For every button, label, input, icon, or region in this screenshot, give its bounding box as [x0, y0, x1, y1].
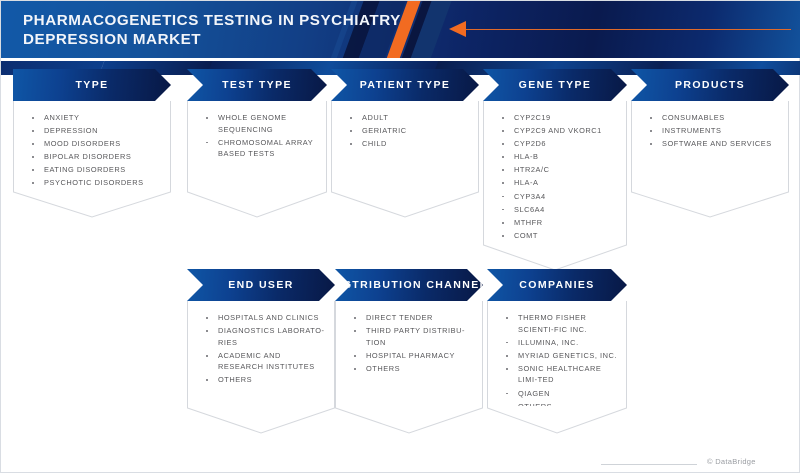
column-header-label: TEST TYPE	[222, 79, 292, 91]
list-item: SOFTWARE AND SERVICES	[646, 138, 780, 150]
column-bottom-point	[187, 406, 335, 434]
column-bottom-point	[187, 190, 327, 218]
column-header-gene-type[interactable]: GENE TYPE	[483, 69, 627, 101]
column-header-end-user[interactable]: END USER	[187, 269, 335, 301]
column-body-gene-type: CYP2C19CYP2C9 AND VKORC1CYP2D6HLA‐BHTR2A…	[483, 101, 627, 244]
list-item: WHOLE GENOME SEQUENCING	[202, 112, 318, 135]
list-item: OTHERS	[350, 363, 474, 375]
item-list-test-type: WHOLE GENOME SEQUENCINGCHROMOSOMAL ARRAY…	[188, 101, 326, 167]
column-header-test-type[interactable]: TEST TYPE	[187, 69, 327, 101]
category-column-patient-type[interactable]: PATIENT TYPEADULTGERIATRICCHILD	[331, 69, 479, 191]
list-item: DEPRESSION	[28, 125, 162, 137]
category-column-companies[interactable]: COMPANIESTHERMO FISHER SCIENTI‐FIC INC.I…	[487, 269, 627, 407]
column-header-label: PATIENT TYPE	[360, 79, 451, 91]
list-item: MOOD DISORDERS	[28, 138, 162, 150]
list-item: PSYCHOTIC DISORDERS	[28, 177, 162, 189]
column-bottom-point	[13, 190, 171, 218]
column-header-type[interactable]: TYPE	[13, 69, 171, 101]
item-list-companies: THERMO FISHER SCIENTI‐FIC INC.ILLUMINA, …	[488, 301, 626, 420]
list-item: ADULT	[346, 112, 470, 124]
list-item: MYRIAD GENETICS, INC.	[502, 350, 618, 362]
list-item: CYP3A4	[498, 191, 618, 203]
column-body-patient-type: ADULTGERIATRICCHILD	[331, 101, 479, 191]
column-body-type: ANXIETYDEPRESSIONMOOD DISORDERSBIPOLAR D…	[13, 101, 171, 191]
left-arrow-icon	[449, 21, 466, 37]
list-item: ACADEMIC AND RESEARCH INSTITUTES	[202, 350, 326, 373]
column-header-patient-type[interactable]: PATIENT TYPE	[331, 69, 479, 101]
column-header-label: END USER	[228, 279, 293, 291]
list-item: CYP2C9 AND VKORC1	[498, 125, 618, 137]
column-body-end-user: HOSPITALS AND CLINICSDIAGNOSTICS LABORAT…	[187, 301, 335, 407]
list-item: OTHERS	[202, 374, 326, 386]
column-body-products: CONSUMABLESINSTRUMENTSSOFTWARE AND SERVI…	[631, 101, 789, 191]
page-title: PHARMACOGENETICS TESTING IN PSYCHIATRY D…	[23, 11, 443, 49]
list-item: CYP2D6	[498, 138, 618, 150]
column-bottom-point	[487, 406, 627, 434]
list-item: INSTRUMENTS	[646, 125, 780, 137]
list-item: THIRD PARTY DISTRIBU‐TION	[350, 325, 474, 348]
list-item: HLA‐A	[498, 177, 618, 189]
infographic-root: PHARMACOGENETICS TESTING IN PSYCHIATRY D…	[0, 0, 800, 473]
column-header-companies[interactable]: COMPANIES	[487, 269, 627, 301]
list-item: MTHFR	[498, 217, 618, 229]
list-item: DIRECT TENDER	[350, 312, 474, 324]
column-body-distribution-channel: DIRECT TENDERTHIRD PARTY DISTRIBU‐TIONHO…	[335, 301, 483, 407]
column-header-products[interactable]: PRODUCTS	[631, 69, 789, 101]
item-list-end-user: HOSPITALS AND CLINICSDIAGNOSTICS LABORAT…	[188, 301, 334, 394]
list-item: COMT	[498, 230, 618, 242]
page-title-line1: PHARMACOGENETICS TESTING IN PSYCHIATRY	[23, 11, 443, 30]
list-item: SLC6A4	[498, 204, 618, 216]
list-item: HTR2A/C	[498, 164, 618, 176]
list-item: CYP2C19	[498, 112, 618, 124]
item-list-gene-type: CYP2C19CYP2C9 AND VKORC1CYP2D6HLA‐BHTR2A…	[484, 101, 626, 262]
category-column-distribution-channel[interactable]: DISTRIBUTION CHANNELDIRECT TENDERTHIRD P…	[335, 269, 483, 407]
column-header-distribution-channel[interactable]: DISTRIBUTION CHANNEL	[335, 269, 483, 301]
list-item: GERIATRIC	[346, 125, 470, 137]
list-item: EATING DISORDERS	[28, 164, 162, 176]
footer-divider	[601, 464, 697, 465]
list-item: ILLUMINA, INC.	[502, 337, 618, 349]
list-item: HOSPITAL PHARMACY	[350, 350, 474, 362]
list-item: CHROMOSOMAL ARRAY BASED TESTS	[202, 137, 318, 160]
column-header-label: GENE TYPE	[519, 79, 592, 91]
list-item: THERMO FISHER SCIENTI‐FIC INC.	[502, 312, 618, 335]
item-list-patient-type: ADULTGERIATRICCHILD	[332, 101, 478, 157]
list-item: CONSUMABLES	[646, 112, 780, 124]
column-header-label: TYPE	[75, 79, 108, 91]
item-list-distribution-channel: DIRECT TENDERTHIRD PARTY DISTRIBU‐TIONHO…	[336, 301, 482, 382]
list-item: HOSPITALS AND CLINICS	[202, 312, 326, 324]
category-column-test-type[interactable]: TEST TYPEWHOLE GENOME SEQUENCINGCHROMOSO…	[187, 69, 327, 191]
list-item: DIAGNOSTICS LABORATO‐RIES	[202, 325, 326, 348]
column-bottom-point	[331, 190, 479, 218]
category-column-products[interactable]: PRODUCTSCONSUMABLESINSTRUMENTSSOFTWARE A…	[631, 69, 789, 191]
category-column-end-user[interactable]: END USERHOSPITALS AND CLINICSDIAGNOSTICS…	[187, 269, 335, 407]
list-item: CHILD	[346, 138, 470, 150]
arrow-line	[465, 29, 791, 30]
title-bar: PHARMACOGENETICS TESTING IN PSYCHIATRY D…	[1, 1, 800, 58]
list-item: HLA‐B	[498, 151, 618, 163]
column-header-label: PRODUCTS	[675, 79, 745, 91]
category-column-gene-type[interactable]: GENE TYPECYP2C19CYP2C9 AND VKORC1CYP2D6H…	[483, 69, 627, 244]
column-header-label: COMPANIES	[519, 279, 594, 291]
column-bottom-point	[483, 243, 627, 271]
category-column-type[interactable]: TYPEANXIETYDEPRESSIONMOOD DISORDERSBIPOL…	[13, 69, 171, 191]
page-title-line2: DEPRESSION MARKET	[23, 30, 443, 49]
item-list-products: CONSUMABLESINSTRUMENTSSOFTWARE AND SERVI…	[632, 101, 788, 157]
item-list-type: ANXIETYDEPRESSIONMOOD DISORDERSBIPOLAR D…	[14, 101, 170, 197]
list-item: ANXIETY	[28, 112, 162, 124]
list-item: QIAGEN	[502, 388, 618, 400]
list-item: SONIC HEALTHCARE LIMI‐TED	[502, 363, 618, 386]
column-bottom-point	[335, 406, 483, 434]
column-body-companies: THERMO FISHER SCIENTI‐FIC INC.ILLUMINA, …	[487, 301, 627, 407]
column-body-test-type: WHOLE GENOME SEQUENCINGCHROMOSOMAL ARRAY…	[187, 101, 327, 191]
footer-copyright: © DataBridge	[707, 457, 756, 466]
list-item: BIPOLAR DISORDERS	[28, 151, 162, 163]
column-header-label: DISTRIBUTION CHANNEL	[331, 279, 488, 291]
column-bottom-point	[631, 190, 789, 218]
